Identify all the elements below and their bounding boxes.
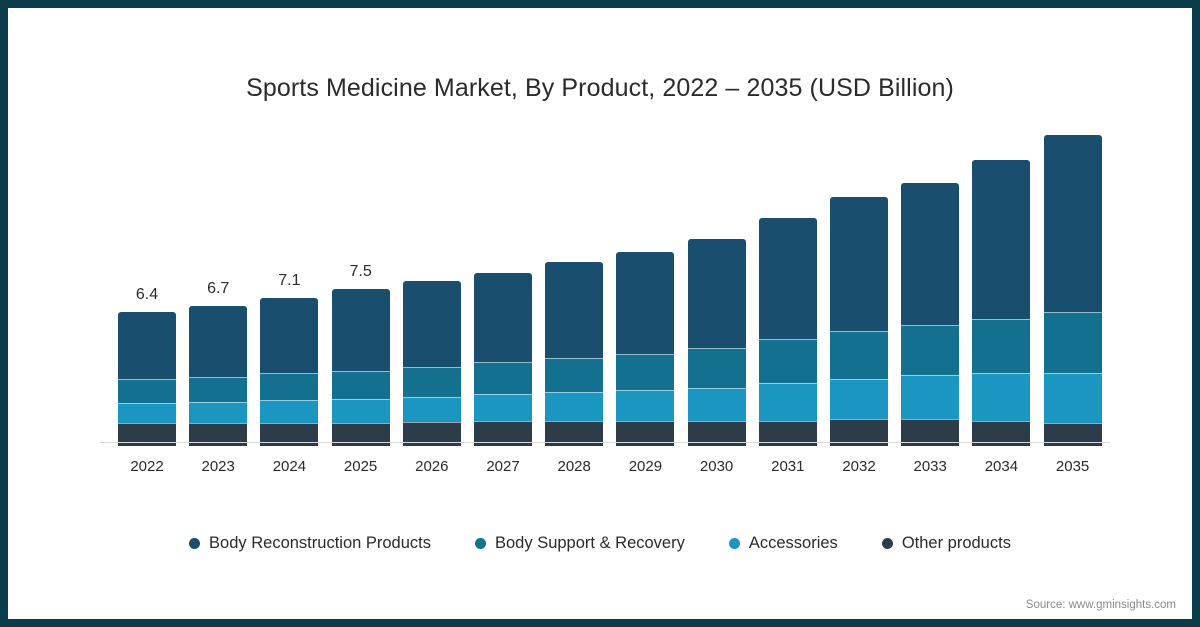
circle-icon xyxy=(475,538,486,549)
bar-segment[interactable] xyxy=(474,362,532,393)
bar-column[interactable] xyxy=(688,239,746,446)
x-axis-tick-2032: 2032 xyxy=(830,458,888,475)
bar-segment[interactable] xyxy=(830,331,888,379)
bar-value-label: 6.4 xyxy=(106,286,188,304)
bar-segment[interactable] xyxy=(189,402,247,423)
chart-canvas: Sports Medicine Market, By Product, 2022… xyxy=(8,8,1192,619)
x-axis-tick-2023: 2023 xyxy=(189,458,247,475)
bar-segment[interactable] xyxy=(830,379,888,419)
stacked-bar[interactable] xyxy=(260,298,318,446)
bar-segment[interactable] xyxy=(616,354,674,390)
bar-column[interactable] xyxy=(474,273,532,446)
bar-segment[interactable] xyxy=(972,373,1030,421)
bar-segment[interactable] xyxy=(972,319,1030,373)
stacked-bar[interactable] xyxy=(118,312,176,446)
x-axis-tick-2030: 2030 xyxy=(688,458,746,475)
bar-column[interactable] xyxy=(403,281,461,446)
bar-segment[interactable] xyxy=(332,399,390,423)
stacked-bar[interactable] xyxy=(830,197,888,446)
bar-segment[interactable] xyxy=(759,339,817,383)
bar-segment[interactable] xyxy=(474,273,532,363)
bar-column[interactable] xyxy=(972,160,1030,446)
bar-segment[interactable] xyxy=(688,239,746,348)
bar-segment[interactable] xyxy=(118,379,176,403)
x-axis-tick-2025: 2025 xyxy=(332,458,390,475)
stacked-bar[interactable] xyxy=(474,273,532,446)
bar-segment[interactable] xyxy=(260,400,318,423)
bar-segment[interactable] xyxy=(545,262,603,358)
x-axis-tick-2027: 2027 xyxy=(474,458,532,475)
circle-icon xyxy=(729,538,740,549)
x-axis-tick-2028: 2028 xyxy=(545,458,603,475)
legend-item-label: Body Support & Recovery xyxy=(495,534,685,553)
bar-column[interactable]: 6.4 xyxy=(118,312,176,446)
x-axis-tick-2031: 2031 xyxy=(759,458,817,475)
circle-icon xyxy=(189,538,200,549)
stacked-bar[interactable] xyxy=(688,239,746,446)
stacked-bar[interactable] xyxy=(403,281,461,446)
legend-item-label: Body Reconstruction Products xyxy=(209,534,431,553)
bar-segment[interactable] xyxy=(403,367,461,397)
x-axis-tick-2029: 2029 xyxy=(616,458,674,475)
chart-legend: Body Reconstruction ProductsBody Support… xyxy=(8,534,1192,553)
bar-segment[interactable] xyxy=(474,394,532,421)
bar-value-label: 7.5 xyxy=(320,263,402,281)
bar-segment[interactable] xyxy=(972,160,1030,319)
bar-segment[interactable] xyxy=(332,371,390,399)
bar-segment[interactable] xyxy=(260,373,318,400)
bar-segment[interactable] xyxy=(616,252,674,354)
page-title: Sports Medicine Market, By Product, 2022… xyxy=(8,74,1192,103)
legend-item[interactable]: Body Reconstruction Products xyxy=(189,534,431,553)
legend-item[interactable]: Accessories xyxy=(729,534,838,553)
chart-frame: Sports Medicine Market, By Product, 2022… xyxy=(0,0,1200,627)
bar-segment[interactable] xyxy=(545,358,603,391)
bar-segment[interactable] xyxy=(403,281,461,367)
bar-segment[interactable] xyxy=(688,348,746,388)
bar-column[interactable] xyxy=(545,262,603,446)
bar-segment[interactable] xyxy=(901,183,959,325)
bar-column[interactable] xyxy=(759,218,817,446)
x-axis-tick-2026: 2026 xyxy=(403,458,461,475)
bar-segment[interactable] xyxy=(545,392,603,421)
bar-segment[interactable] xyxy=(901,325,959,375)
bar-column[interactable] xyxy=(616,252,674,446)
stacked-bar[interactable] xyxy=(759,218,817,446)
bar-segment[interactable] xyxy=(260,298,318,373)
bar-segment[interactable] xyxy=(118,403,176,423)
bar-column[interactable]: 7.1 xyxy=(260,298,318,446)
bar-segment[interactable] xyxy=(759,218,817,339)
stacked-bar[interactable] xyxy=(332,289,390,446)
x-axis-tick-2034: 2034 xyxy=(972,458,1030,475)
bar-segment[interactable] xyxy=(759,383,817,421)
bar-segment[interactable] xyxy=(1044,373,1102,423)
bar-column[interactable] xyxy=(901,183,959,446)
bar-segment[interactable] xyxy=(332,289,390,371)
legend-item-label: Other products xyxy=(902,534,1011,553)
plot-area: 6.46.77.17.5 xyxy=(100,120,1110,446)
stacked-bar[interactable] xyxy=(189,306,247,446)
circle-icon xyxy=(882,538,893,549)
bar-column[interactable] xyxy=(1044,135,1102,446)
x-axis-tick-2022: 2022 xyxy=(118,458,176,475)
x-axis-line xyxy=(100,442,1110,443)
bar-segment[interactable] xyxy=(1044,312,1102,373)
bar-segment[interactable] xyxy=(403,397,461,422)
bar-segment[interactable] xyxy=(1044,135,1102,313)
x-axis-tick-2024: 2024 xyxy=(260,458,318,475)
stacked-bar[interactable] xyxy=(545,262,603,446)
bar-column[interactable]: 6.7 xyxy=(189,306,247,446)
bar-value-label: 6.7 xyxy=(177,280,259,298)
legend-item[interactable]: Other products xyxy=(882,534,1011,553)
legend-item[interactable]: Body Support & Recovery xyxy=(475,534,685,553)
bar-column[interactable] xyxy=(830,197,888,446)
stacked-bar[interactable] xyxy=(972,160,1030,446)
bar-segment[interactable] xyxy=(616,390,674,421)
bar-segment[interactable] xyxy=(189,377,247,402)
bar-value-label: 7.1 xyxy=(248,272,330,290)
bar-segment[interactable] xyxy=(901,375,959,419)
bar-segment[interactable] xyxy=(830,197,888,331)
stacked-bar[interactable] xyxy=(901,183,959,446)
stacked-bar[interactable] xyxy=(616,252,674,446)
legend-item-label: Accessories xyxy=(749,534,838,553)
stacked-bar[interactable] xyxy=(1044,135,1102,446)
bar-segment[interactable] xyxy=(688,388,746,421)
x-axis-tick-labels: 2022202320242025202620272028202920302031… xyxy=(100,458,1110,482)
bar-segment[interactable] xyxy=(118,312,176,379)
source-attribution: Source: www.gminsights.com xyxy=(1026,599,1176,611)
bar-column[interactable]: 7.5 xyxy=(332,289,390,446)
x-axis-tick-2033: 2033 xyxy=(901,458,959,475)
x-axis-tick-2035: 2035 xyxy=(1044,458,1102,475)
bar-segment[interactable] xyxy=(189,306,247,377)
